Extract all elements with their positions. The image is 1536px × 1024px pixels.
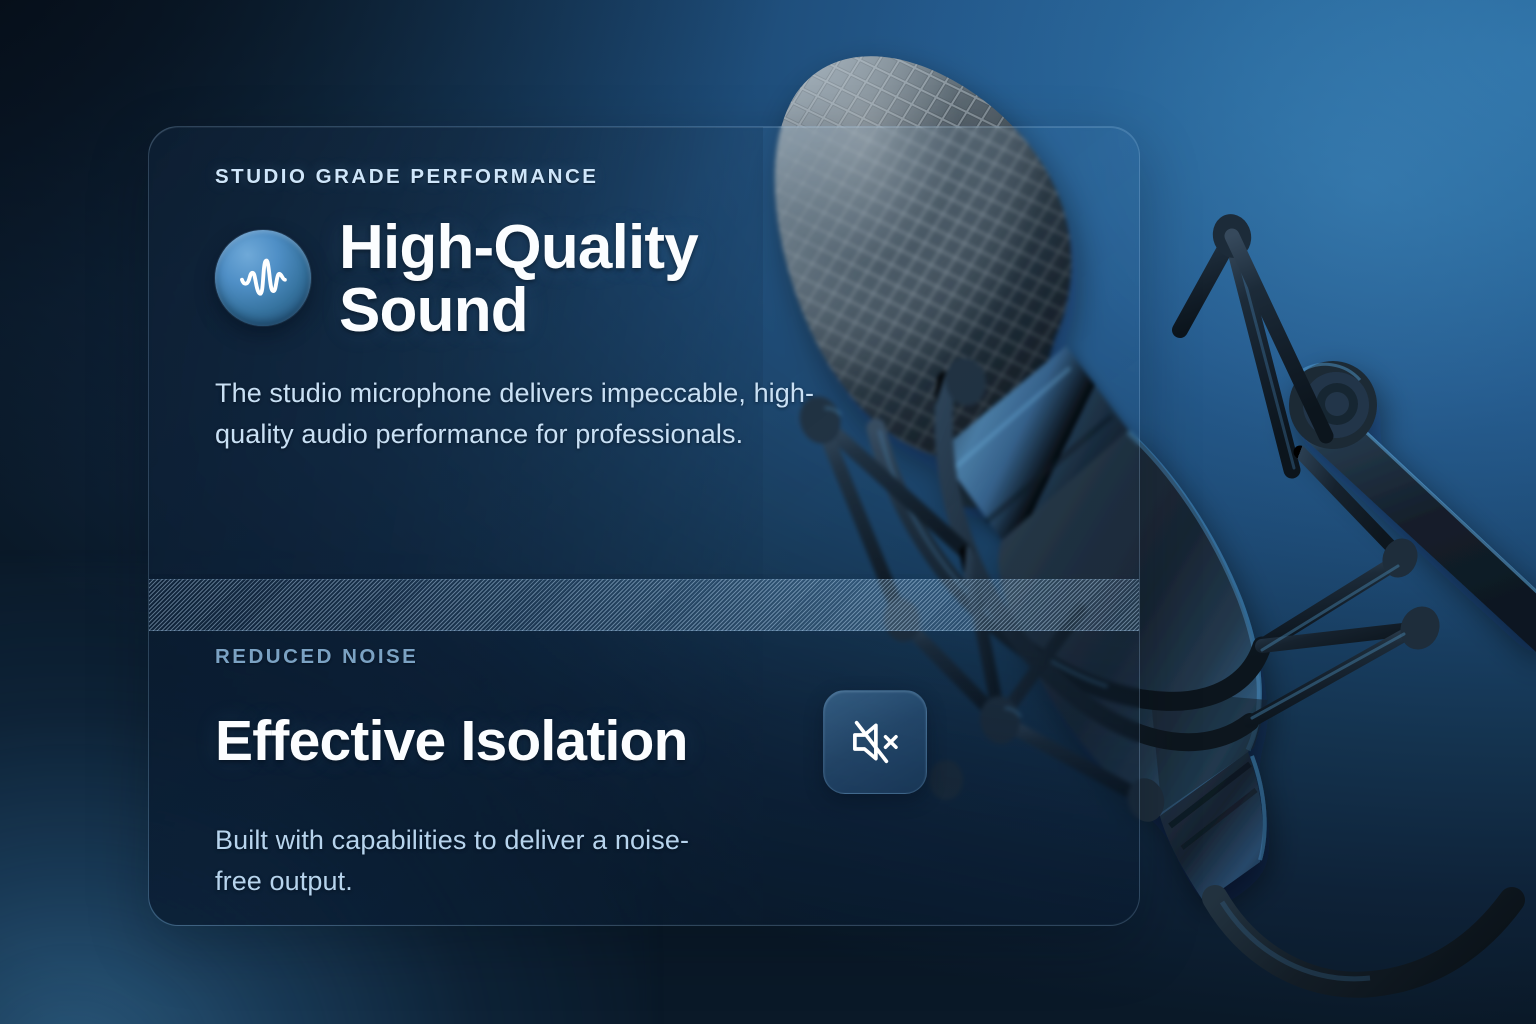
audio-waveform-icon <box>215 230 311 326</box>
headline-row-2: Effective Isolation <box>215 690 927 794</box>
eyebrow-label-reduced-noise: REDUCED NOISE <box>215 647 995 668</box>
section-title-effective-isolation: Effective Isolation <box>215 712 688 772</box>
screenshot-stage: STUDIO GRADE PERFORMANCE High-Quality So… <box>0 0 1536 1024</box>
feature-description-2: Built with capabilities to deliver a noi… <box>215 820 735 902</box>
feature-section-high-quality-sound: STUDIO GRADE PERFORMANCE High-Quality So… <box>215 167 855 455</box>
speaker-mute-icon <box>823 690 927 794</box>
headline-row-1: High-Quality Sound <box>215 216 855 344</box>
feature-glass-card: STUDIO GRADE PERFORMANCE High-Quality So… <box>148 126 1140 926</box>
card-content: STUDIO GRADE PERFORMANCE High-Quality So… <box>149 127 1139 925</box>
feature-section-effective-isolation: REDUCED NOISE Effective Isolation <box>215 647 995 902</box>
eyebrow-label-studio-grade: STUDIO GRADE PERFORMANCE <box>215 167 855 188</box>
feature-description-1: The studio microphone delivers impeccabl… <box>215 373 815 455</box>
page-title: High-Quality Sound <box>339 216 855 344</box>
